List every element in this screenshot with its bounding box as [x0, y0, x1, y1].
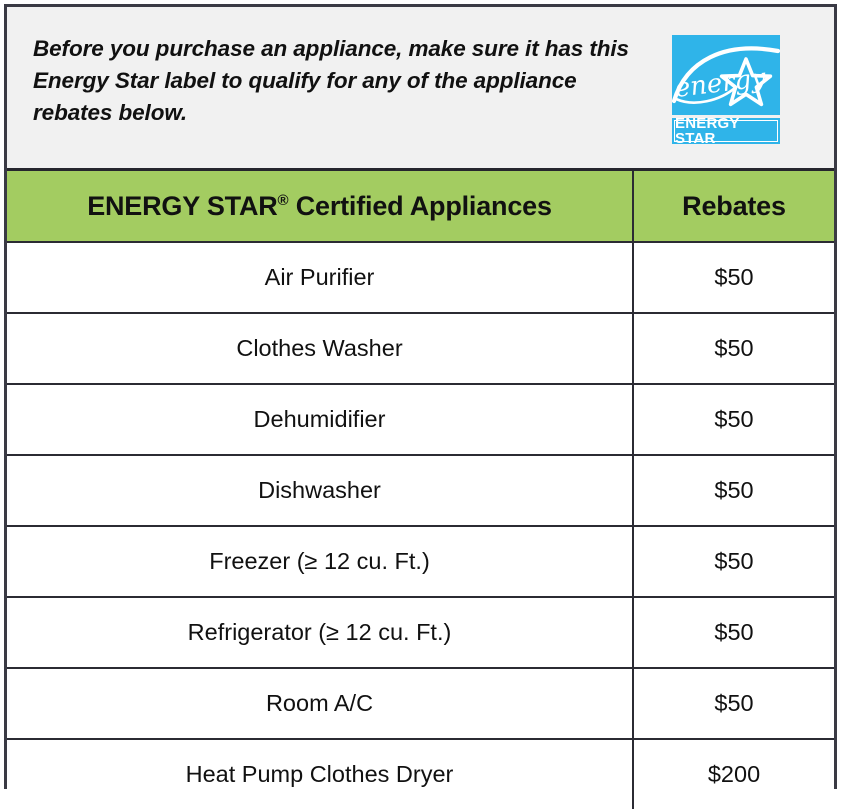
column-header-appliance-suffix: Certified Appliances: [288, 191, 551, 221]
table-row: Dishwasher $50: [7, 455, 834, 526]
rebate-amount: $50: [633, 668, 834, 739]
table-header-row: ENERGY STAR® Certified Appliances Rebate…: [7, 171, 834, 242]
table-row: Clothes Washer $50: [7, 313, 834, 384]
rebate-amount: $50: [633, 455, 834, 526]
column-header-appliance-brand: ENERGY STAR: [87, 191, 277, 221]
rebate-amount: $50: [633, 597, 834, 668]
energy-star-logo: energy ENERGY STAR: [653, 7, 799, 144]
energy-star-wordmark-bar: ENERGY STAR: [672, 118, 780, 144]
column-header-rebate: Rebates: [633, 171, 834, 242]
table-row: Air Purifier $50: [7, 242, 834, 313]
column-header-appliance: ENERGY STAR® Certified Appliances: [7, 171, 633, 242]
appliance-name: Dishwasher: [7, 455, 633, 526]
table-row: Heat Pump Clothes Dryer $200: [7, 739, 834, 809]
appliance-name: Freezer (≥ 12 cu. Ft.): [7, 526, 633, 597]
rebates-table-body: Air Purifier $50 Clothes Washer $50 Dehu…: [7, 242, 834, 809]
energy-star-mark: energy: [672, 35, 780, 115]
rebate-amount: $50: [633, 313, 834, 384]
table-row: Dehumidifier $50: [7, 384, 834, 455]
notice-panel: Before you purchase an appliance, make s…: [7, 7, 834, 171]
table-row: Freezer (≥ 12 cu. Ft.) $50: [7, 526, 834, 597]
rebate-amount: $50: [633, 242, 834, 313]
appliance-name: Heat Pump Clothes Dryer: [7, 739, 633, 809]
appliance-name: Refrigerator (≥ 12 cu. Ft.): [7, 597, 633, 668]
rebate-table-card: Before you purchase an appliance, make s…: [4, 4, 837, 789]
table-row: Room A/C $50: [7, 668, 834, 739]
energy-star-wordmark: ENERGY STAR: [674, 120, 778, 142]
notice-text: Before you purchase an appliance, make s…: [7, 7, 653, 129]
rebate-amount: $50: [633, 526, 834, 597]
energy-star-mark-graphic: energy: [672, 35, 780, 115]
appliance-name: Dehumidifier: [7, 384, 633, 455]
rebate-amount: $50: [633, 384, 834, 455]
rebate-amount: $200: [633, 739, 834, 809]
appliance-name: Room A/C: [7, 668, 633, 739]
registered-trademark-icon: ®: [278, 192, 289, 209]
rebates-table: ENERGY STAR® Certified Appliances Rebate…: [7, 171, 834, 809]
appliance-name: Clothes Washer: [7, 313, 633, 384]
appliance-name: Air Purifier: [7, 242, 633, 313]
table-row: Refrigerator (≥ 12 cu. Ft.) $50: [7, 597, 834, 668]
